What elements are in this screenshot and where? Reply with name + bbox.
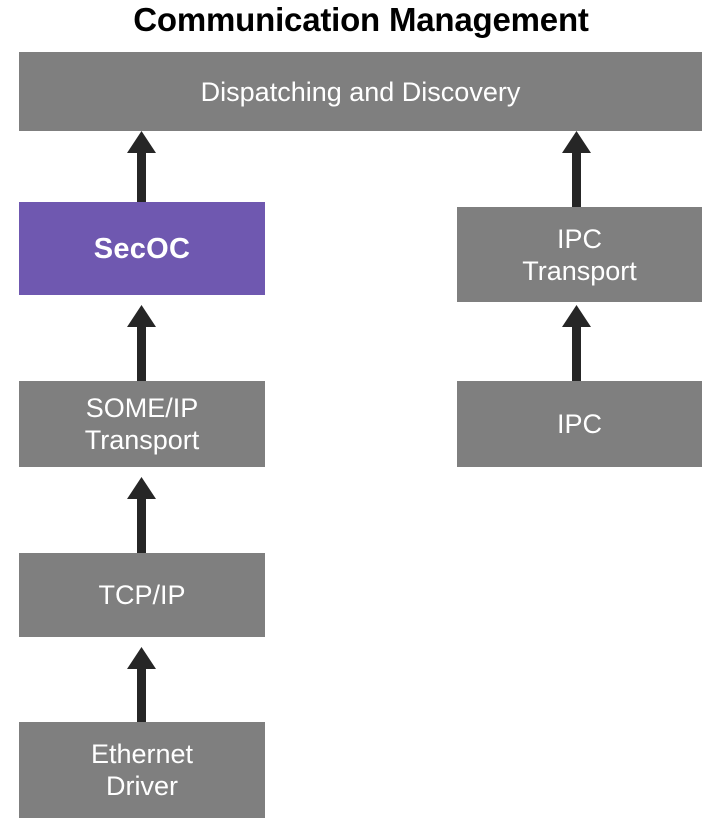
box-someip-transport[interactable]: SOME/IP Transport [19,381,265,467]
box-label: SecOC [94,233,191,265]
box-label: Ethernet Driver [91,738,193,802]
arrow-ipc-to-ipctransport-icon [561,305,592,381]
box-label: TCP/IP [98,579,185,611]
box-label: SOME/IP Transport [85,392,200,456]
box-ethernet-driver[interactable]: Ethernet Driver [19,722,265,818]
arrow-ethernet-to-tcpip-icon [126,647,157,723]
box-ipc[interactable]: IPC [457,381,702,467]
diagram-canvas: Communication Management Dispatching and… [0,0,722,818]
box-tcpip[interactable]: TCP/IP [19,553,265,637]
box-dispatching-and-discovery[interactable]: Dispatching and Discovery [19,52,702,131]
arrow-tcpip-to-someip-icon [126,477,157,553]
page-title: Communication Management [0,0,722,41]
box-ipc-transport[interactable]: IPC Transport [457,207,702,302]
box-label: IPC [557,408,602,440]
arrow-ipctransport-to-dispatching-icon [561,131,592,207]
box-label: IPC Transport [522,223,637,287]
box-secoc[interactable]: SecOC [19,202,265,295]
arrow-secoc-to-dispatching-icon [126,131,157,202]
box-label: Dispatching and Discovery [201,76,521,108]
arrow-someip-to-secoc-icon [126,305,157,381]
